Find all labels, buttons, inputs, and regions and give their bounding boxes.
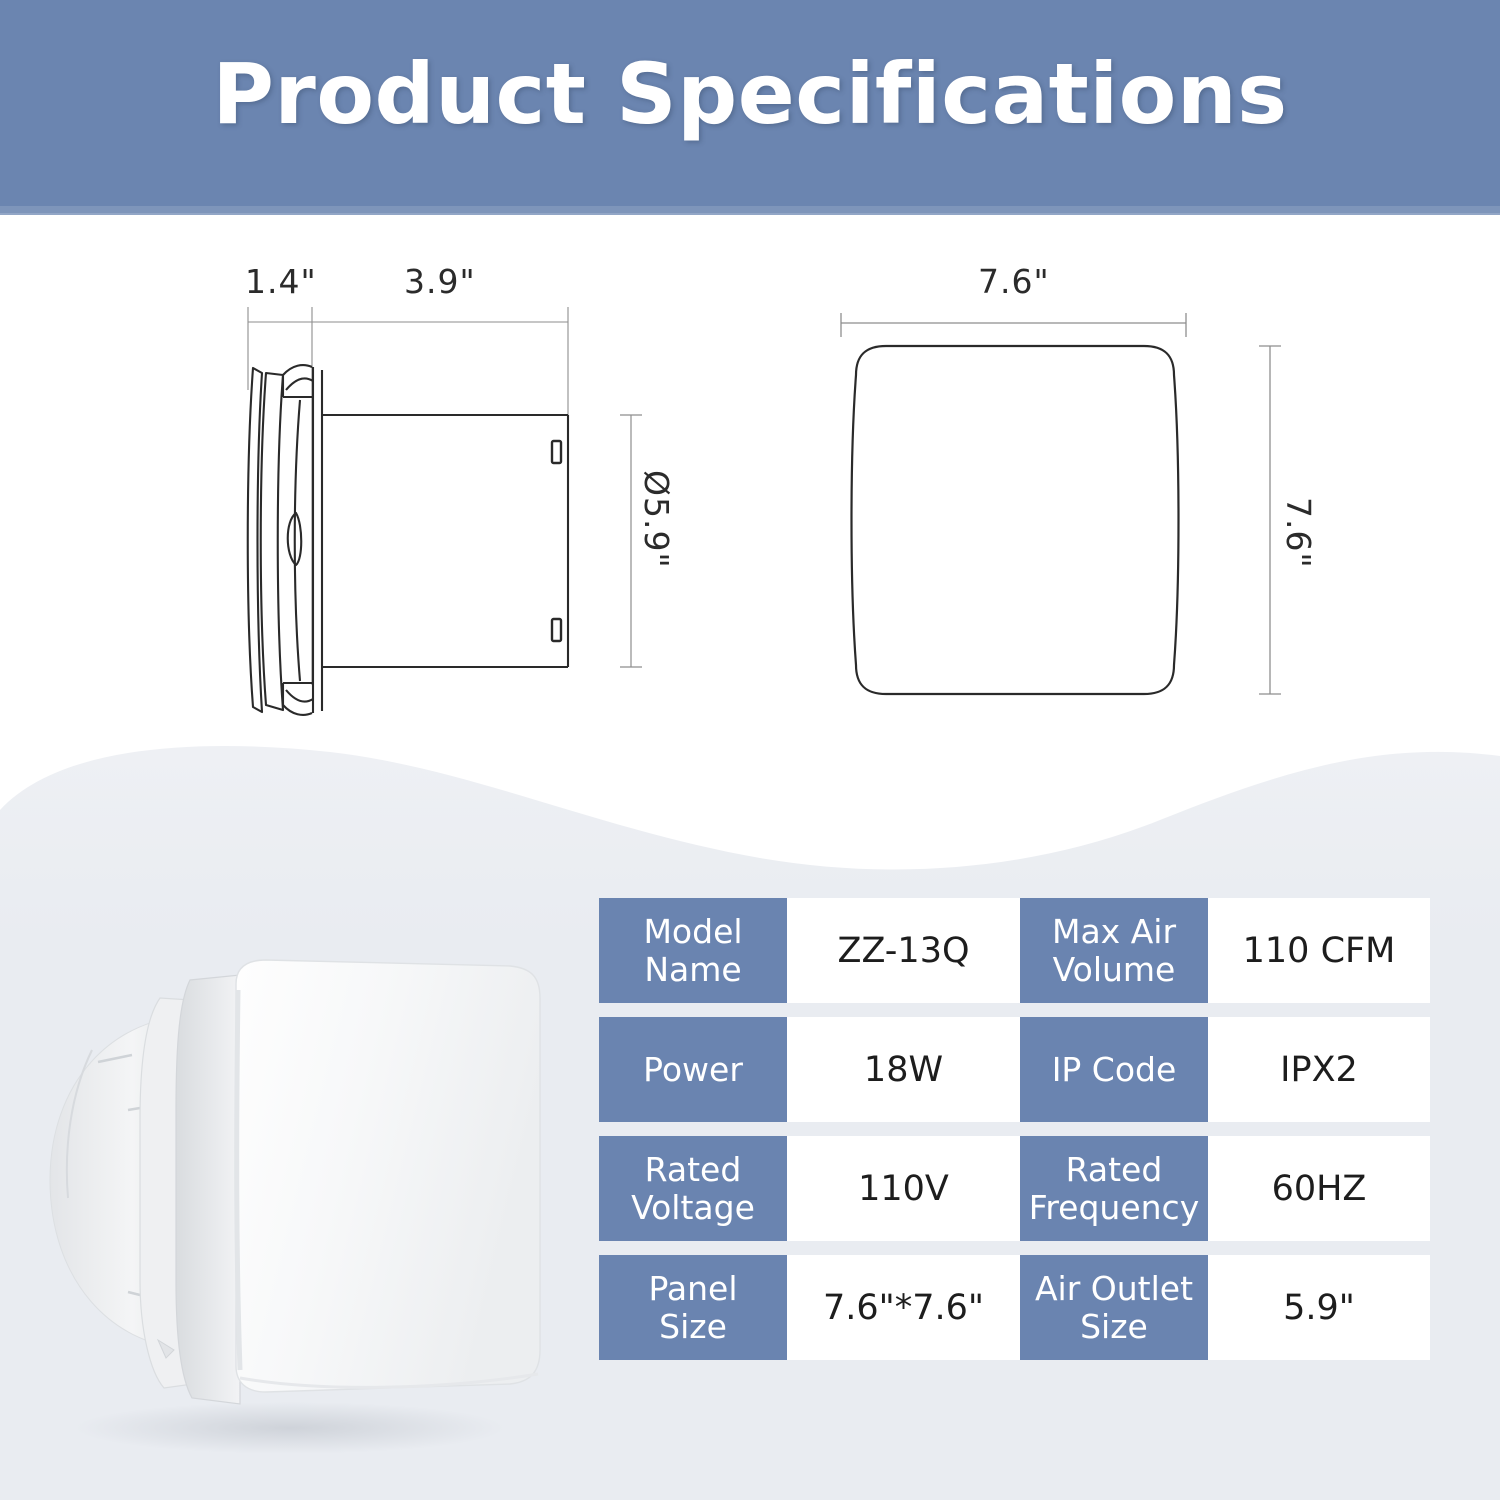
front-view-drawing [800,215,1360,735]
spec-key-power: Power [599,1017,787,1122]
spec-value-max-air-volume: 110 CFM [1208,898,1430,1003]
table-row: ModelName ZZ-13Q Max AirVolume 110 CFM [599,898,1441,1003]
spec-key-model-name: ModelName [599,898,787,1003]
spec-key-panel-size: PanelSize [599,1255,787,1360]
spec-value-model-name: ZZ-13Q [787,898,1020,1003]
spec-key-rated-voltage: RatedVoltage [599,1136,787,1241]
table-row: Power 18W IP Code IPX2 [599,1017,1441,1122]
spec-key-max-air-volume: Max AirVolume [1020,898,1208,1003]
spec-value-rated-frequency: 60HZ [1208,1136,1430,1241]
page-title: Product Specifications [0,46,1500,143]
spec-value-ip-code: IPX2 [1208,1017,1430,1122]
spec-value-rated-voltage: 110V [787,1136,1020,1241]
spec-key-rated-frequency: RatedFrequency [1020,1136,1208,1241]
spec-key-air-outlet-size: Air OutletSize [1020,1255,1208,1360]
table-row: RatedVoltage 110V RatedFrequency 60HZ [599,1136,1441,1241]
spec-value-panel-size: 7.6"*7.6" [787,1255,1020,1360]
table-row: PanelSize 7.6"*7.6" Air OutletSize 5.9" [599,1255,1441,1360]
header-underline [0,206,1500,213]
specification-table: ModelName ZZ-13Q Max AirVolume 110 CFM P… [599,898,1441,1360]
spec-value-power: 18W [787,1017,1020,1122]
spec-value-air-outlet-size: 5.9" [1208,1255,1430,1360]
side-view-drawing [0,215,700,735]
spec-key-ip-code: IP Code [1020,1017,1208,1122]
product-photo-exhaust-fan [40,880,600,1460]
